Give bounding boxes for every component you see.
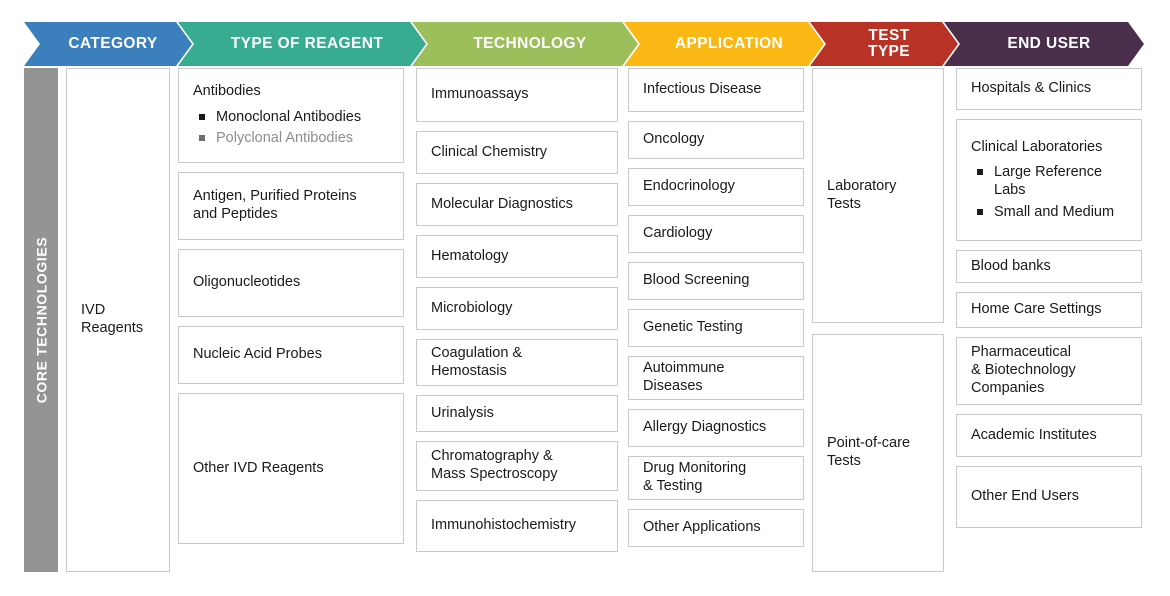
card[interactable]: Clinical Chemistry (416, 131, 618, 174)
card-title: Nucleic Acid Probes (193, 346, 389, 364)
ivd-market-segmentation-infographic: CATEGORYTYPE OF REAGENTTECHNOLOGYAPPLICA… (0, 0, 1170, 596)
card[interactable]: AntibodiesMonoclonal AntibodiesPolyclona… (178, 68, 404, 163)
card-title: Oncology (643, 131, 789, 149)
card[interactable]: Point-of-care Tests (812, 334, 944, 572)
card[interactable]: Autoimmune Diseases (628, 356, 804, 400)
card[interactable]: Home Care Settings (956, 292, 1142, 328)
card-title: Antigen, Purified Proteins and Peptides (193, 188, 389, 223)
column-category: IVD Reagents (66, 68, 170, 572)
header-chevron-label: APPLICATION (665, 36, 783, 52)
card[interactable]: Other Applications (628, 509, 804, 547)
card-sublist-item[interactable]: Small and Medium (975, 204, 1127, 222)
card[interactable]: Urinalysis (416, 395, 618, 432)
card-title: Clinical Chemistry (431, 144, 603, 162)
card[interactable]: Oncology (628, 121, 804, 159)
card[interactable]: Molecular Diagnostics (416, 183, 618, 226)
card-title: Microbiology (431, 300, 603, 318)
square-bullet-icon (199, 135, 205, 141)
square-bullet-icon (977, 209, 983, 215)
header-chevron-label: TYPE OF REAGENT (221, 36, 383, 52)
card-title: Autoimmune Diseases (643, 360, 789, 395)
card-title: Molecular Diagnostics (431, 196, 603, 214)
card-title: Cardiology (643, 225, 789, 243)
column-application: Infectious DiseaseOncologyEndocrinologyC… (628, 68, 804, 547)
card[interactable]: Immunohistochemistry (416, 500, 618, 552)
card[interactable]: Hematology (416, 235, 618, 278)
card-title: Allergy Diagnostics (643, 419, 789, 437)
card-sublist-item-label: Monoclonal Antibodies (216, 109, 361, 125)
card[interactable]: Pharmaceutical & Biotechnology Companies (956, 337, 1142, 405)
header-chevron-test-type[interactable]: TEST TYPE (810, 22, 958, 66)
header-chevron-label: END USER (997, 36, 1090, 52)
card[interactable]: Blood Screening (628, 262, 804, 300)
header-chevron-technology[interactable]: TECHNOLOGY (412, 22, 638, 66)
card-title: Hematology (431, 248, 603, 266)
card[interactable]: Cardiology (628, 215, 804, 253)
card-title: Genetic Testing (643, 319, 789, 337)
card-sublist-item-label: Small and Medium (994, 204, 1114, 220)
card-title: Point-of-care Tests (827, 435, 929, 470)
header-chevron-type-of-reagent[interactable]: TYPE OF REAGENT (178, 22, 426, 66)
header-chevron-band: CATEGORYTYPE OF REAGENTTECHNOLOGYAPPLICA… (0, 22, 1170, 66)
card[interactable]: Drug Monitoring & Testing (628, 456, 804, 500)
core-technologies-rail-label: CORE TECHNOLOGIES (33, 237, 49, 404)
card-title: Clinical Laboratories (971, 139, 1127, 157)
card-title: Coagulation & Hemostasis (431, 345, 603, 380)
header-chevron-label: TEST TYPE (858, 28, 910, 61)
square-bullet-icon (199, 114, 205, 120)
card-title: Academic Institutes (971, 427, 1127, 445)
card[interactable]: Oligonucleotides (178, 249, 404, 317)
card-sublist-item[interactable]: Large Reference Labs (975, 164, 1127, 199)
card-sublist-item[interactable]: Monoclonal Antibodies (197, 109, 389, 127)
card[interactable]: Endocrinology (628, 168, 804, 206)
card-title: Blood banks (971, 258, 1127, 276)
card[interactable]: Hospitals & Clinics (956, 68, 1142, 110)
card-title: Antibodies (193, 83, 389, 101)
card[interactable]: Infectious Disease (628, 68, 804, 112)
card[interactable]: Allergy Diagnostics (628, 409, 804, 447)
card[interactable]: Chromatography & Mass Spectroscopy (416, 441, 618, 491)
column-test-type: Laboratory TestsPoint-of-care Tests (812, 68, 944, 572)
card[interactable]: Other IVD Reagents (178, 393, 404, 544)
card[interactable]: IVD Reagents (66, 68, 170, 572)
card-title: Pharmaceutical & Biotechnology Companies (971, 344, 1127, 397)
header-chevron-end-user[interactable]: END USER (944, 22, 1144, 66)
card-sublist: Monoclonal AntibodiesPolyclonal Antibodi… (193, 105, 389, 148)
header-chevron-label: CATEGORY (58, 36, 157, 52)
card-title: Home Care Settings (971, 301, 1127, 319)
card-title: Drug Monitoring & Testing (643, 460, 789, 495)
core-technologies-rail: CORE TECHNOLOGIES (24, 68, 58, 572)
header-chevron-category[interactable]: CATEGORY (24, 22, 192, 66)
square-bullet-icon (977, 169, 983, 175)
card-title: Other End Users (971, 488, 1127, 506)
card[interactable]: Genetic Testing (628, 309, 804, 347)
column-end-user: Hospitals & ClinicsClinical Laboratories… (956, 68, 1142, 528)
card-title: Immunoassays (431, 86, 603, 104)
card[interactable]: Antigen, Purified Proteins and Peptides (178, 172, 404, 240)
card-title: Laboratory Tests (827, 178, 929, 213)
column-type-of-reagent: AntibodiesMonoclonal AntibodiesPolyclona… (178, 68, 404, 544)
card-title: Other IVD Reagents (193, 460, 389, 478)
card-title: Other Applications (643, 519, 789, 537)
header-chevron-label: TECHNOLOGY (463, 36, 586, 52)
card-sublist-item[interactable]: Polyclonal Antibodies (197, 130, 389, 148)
card[interactable]: Other End Users (956, 466, 1142, 528)
card-title: Oligonucleotides (193, 274, 389, 292)
card-sublist: Large Reference LabsSmall and Medium (971, 160, 1127, 221)
card[interactable]: Coagulation & Hemostasis (416, 339, 618, 386)
card[interactable]: Immunoassays (416, 68, 618, 122)
card-title: Infectious Disease (643, 81, 789, 99)
header-chevron-application[interactable]: APPLICATION (624, 22, 824, 66)
card[interactable]: Clinical LaboratoriesLarge Reference Lab… (956, 119, 1142, 241)
card-sublist-item-label: Large Reference Labs (994, 164, 1102, 198)
card[interactable]: Microbiology (416, 287, 618, 330)
card[interactable]: Nucleic Acid Probes (178, 326, 404, 384)
card-title: Urinalysis (431, 405, 603, 423)
card-title: IVD Reagents (81, 302, 155, 337)
card-title: Hospitals & Clinics (971, 80, 1127, 98)
card-title: Immunohistochemistry (431, 517, 603, 535)
card-sublist-item-label: Polyclonal Antibodies (216, 130, 353, 146)
card-title: Blood Screening (643, 272, 789, 290)
column-technology: ImmunoassaysClinical ChemistryMolecular … (416, 68, 618, 552)
card[interactable]: Blood banks (956, 250, 1142, 283)
card[interactable]: Laboratory Tests (812, 68, 944, 323)
card-title: Endocrinology (643, 178, 789, 196)
card[interactable]: Academic Institutes (956, 414, 1142, 457)
card-title: Chromatography & Mass Spectroscopy (431, 448, 603, 483)
